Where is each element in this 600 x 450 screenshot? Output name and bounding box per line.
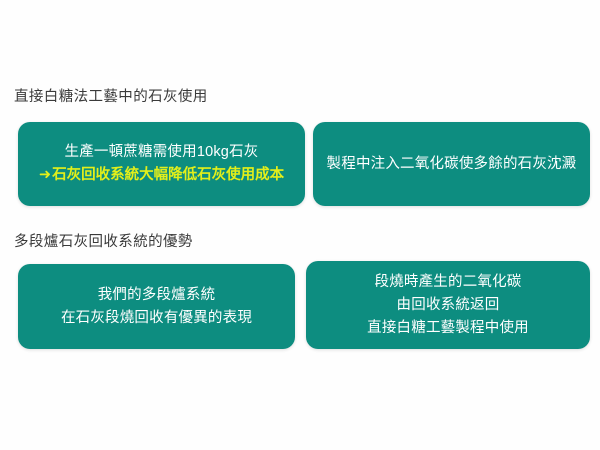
card-line-accent-text: 石灰回收系統大幅降低石灰使用成本 [52,167,284,183]
card-lime-consumption[interactable]: 生產一頓蔗糖需使用10kg石灰 ➜石灰回收系統大幅降低石灰使用成本 [18,122,305,206]
card-line-text: 製程中注入二氧化碳使多餘的石灰沈澱 [327,153,577,176]
card-co2-injection[interactable]: 製程中注入二氧化碳使多餘的石灰沈澱 [313,122,590,206]
card-line-text: 我們的多段爐系統 [98,284,216,307]
card-line-text: 由回收系統返回 [397,294,500,317]
arrow-right-icon: ➜ [39,164,51,187]
card-line-text: 段燒時產生的二氧化碳 [375,271,522,294]
card-co2-recovery-loop[interactable]: 段燒時產生的二氧化碳 由回收系統返回 直接白糖工藝製程中使用 [306,261,590,349]
card-line-text: 生產一頓蔗糖需使用10kg石灰 [65,141,259,164]
slide-canvas: 直接白糖法工藝中的石灰使用 生產一頓蔗糖需使用10kg石灰 ➜石灰回收系統大幅降… [0,0,600,450]
card-line-text: 在石灰段燒回收有優異的表現 [61,307,252,330]
card-line-text: 直接白糖工藝製程中使用 [367,317,529,340]
card-line-accent: ➜石灰回收系統大幅降低石灰使用成本 [39,164,284,187]
section-heading-lime-usage: 直接白糖法工藝中的石灰使用 [14,90,208,105]
card-multi-hearth-performance[interactable]: 我們的多段爐系統 在石灰段燒回收有優異的表現 [18,264,295,349]
section-heading-system-advantages: 多段爐石灰回收系統的優勢 [14,235,193,250]
